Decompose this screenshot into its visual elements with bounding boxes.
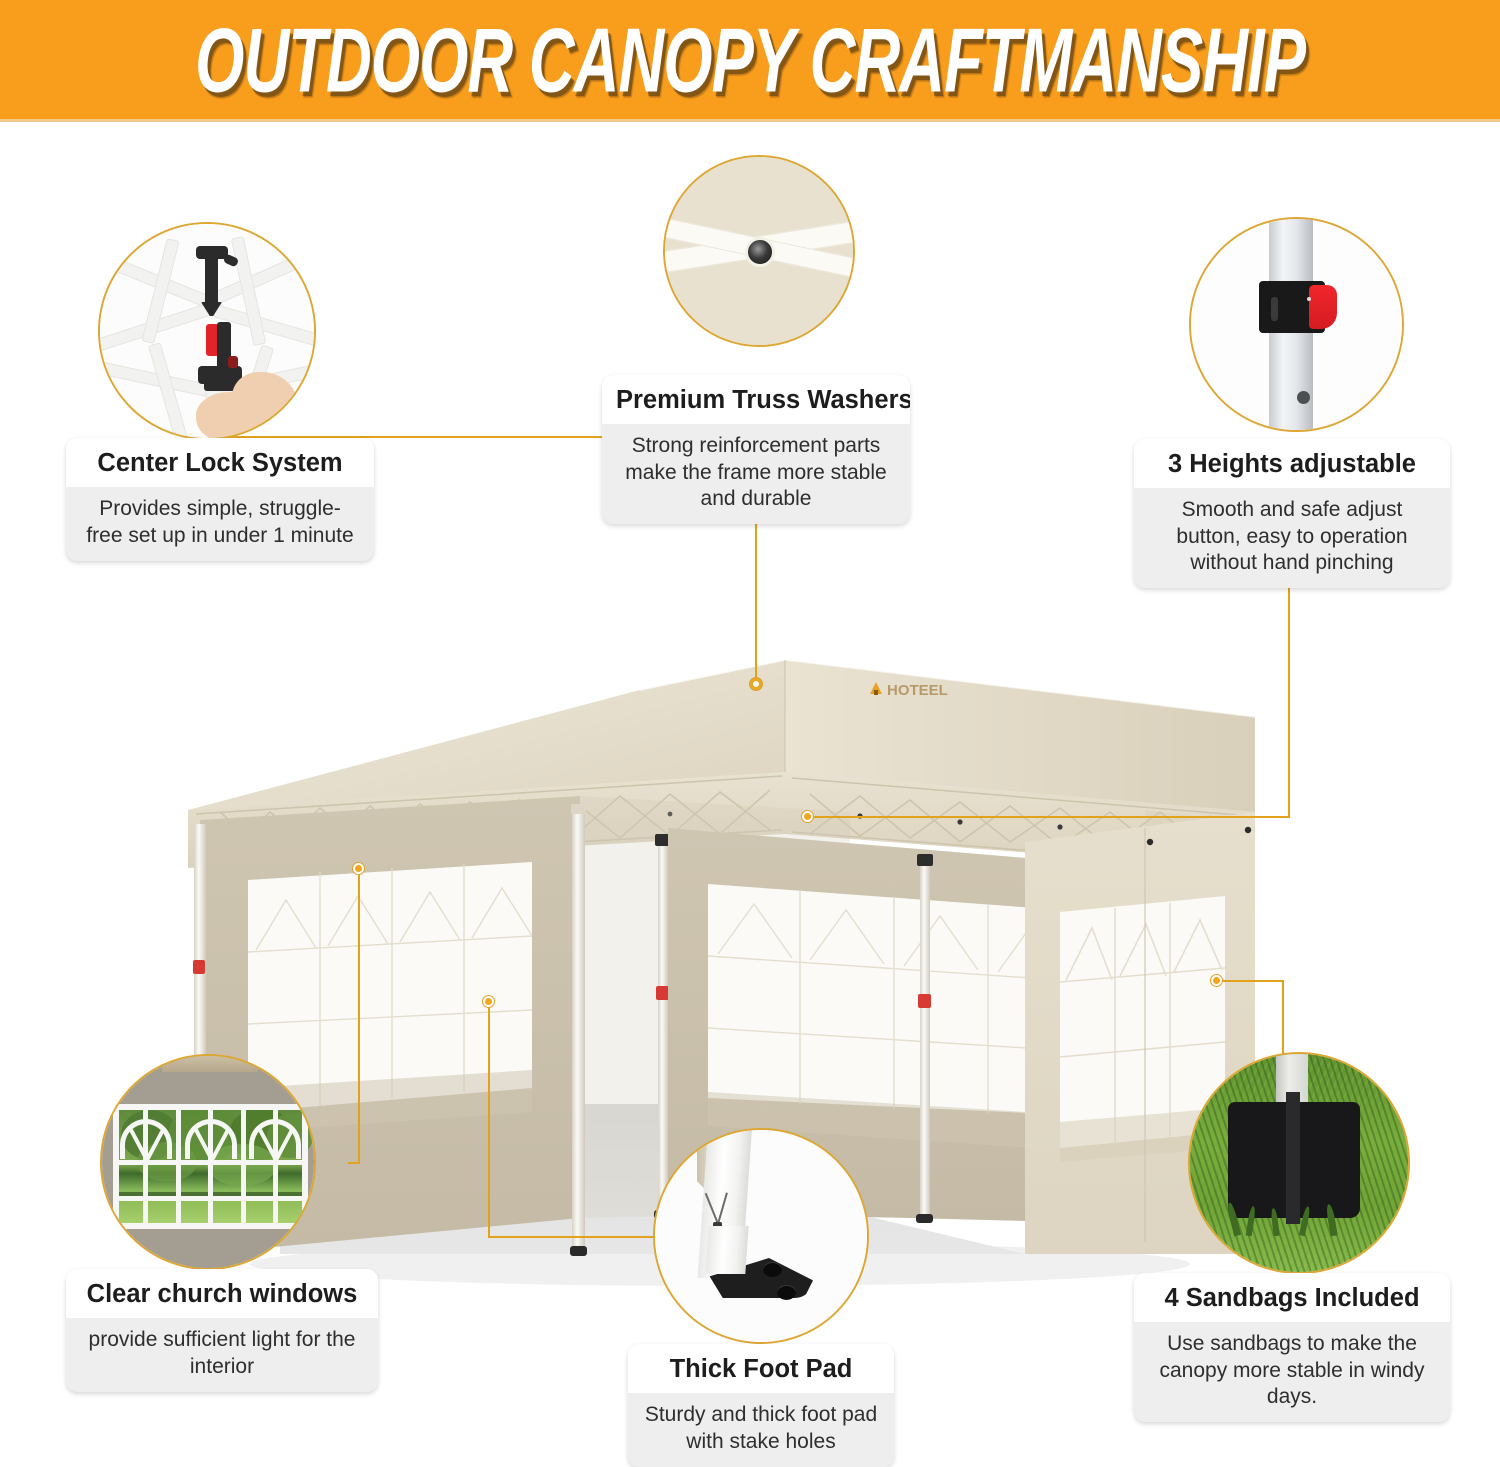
stake-hole-1 xyxy=(763,1262,782,1277)
feature-title-church-windows: Clear church windows xyxy=(66,1269,378,1318)
circle-photo-truss-washer xyxy=(663,155,855,347)
circle-photo-sandbag xyxy=(1188,1052,1410,1274)
connector-dot-sandbags xyxy=(1211,975,1222,986)
feature-card-truss-washers: Premium Truss Washers Strong reinforceme… xyxy=(602,375,910,524)
feature-description-heights-adjustable: Smooth and safe adjust button, easy to o… xyxy=(1134,488,1450,588)
feature-description-truss-washers: Strong reinforcement parts make the fram… xyxy=(602,424,910,524)
canopy-leg-interior-2 xyxy=(920,862,930,1218)
connector-truss-vertical xyxy=(755,499,757,684)
infographic-stage: HOTEEL xyxy=(0,122,1500,1461)
pole-height-hole xyxy=(1297,391,1310,404)
grommet-right-top xyxy=(1147,839,1153,845)
feature-title-truss-washers: Premium Truss Washers xyxy=(602,375,910,424)
feature-description-center-lock: Provides simple, struggle-free set up in… xyxy=(66,487,374,561)
height-adjust-red-lever xyxy=(1309,285,1337,329)
circle-photo-center-lock xyxy=(98,222,316,440)
connector-footpad-horizontal xyxy=(488,1236,658,1238)
sandbag-right xyxy=(1290,1102,1360,1218)
feature-title-foot-pad: Thick Foot Pad xyxy=(628,1344,894,1393)
connector-dot-footpad xyxy=(483,996,494,1007)
feature-card-church-windows: Clear church windows provide sufficient … xyxy=(66,1269,378,1392)
connector-sandbags-vertical xyxy=(1282,980,1284,1058)
truss-washer-bolt xyxy=(745,237,775,267)
grommet-right-corner xyxy=(1245,827,1251,833)
foot-pad-front-left xyxy=(570,1246,587,1256)
brand-logo-text: HOTEEL xyxy=(887,682,948,699)
connector-dot-windows xyxy=(353,863,364,874)
page-title: OUTDOOR CANOPY CRAFTMANSHIP xyxy=(0,0,1500,119)
church-window-frame xyxy=(113,1104,308,1229)
feature-title-heights-adjustable: 3 Heights adjustable xyxy=(1134,439,1450,488)
connector-dot-truss xyxy=(750,678,762,690)
sandbag-center-seam xyxy=(1286,1092,1300,1224)
feature-title-center-lock: Center Lock System xyxy=(66,438,374,487)
feature-card-sandbags: 4 Sandbags Included Use sandbags to make… xyxy=(1134,1273,1450,1422)
connector-sandbags-horizontal xyxy=(1216,980,1284,982)
circle-photo-church-windows xyxy=(100,1054,316,1270)
header-banner: OUTDOOR CANOPY CRAFTMANSHIP xyxy=(0,0,1500,122)
feature-description-sandbags: Use sandbags to make the canopy more sta… xyxy=(1134,1322,1450,1422)
feature-title-sandbags: 4 Sandbags Included xyxy=(1134,1273,1450,1322)
circle-photo-height-adjust xyxy=(1189,217,1404,432)
feature-card-foot-pad: Thick Foot Pad Sturdy and thick foot pad… xyxy=(628,1344,894,1467)
connector-heights-horizontal xyxy=(808,816,1290,818)
connector-footpad-vertical xyxy=(488,1002,490,1238)
height-adjust-button-interior xyxy=(656,986,669,1000)
feature-description-church-windows: provide sufficient light for the interio… xyxy=(66,1318,378,1392)
feature-card-heights-adjustable: 3 Heights adjustable Smooth and safe adj… xyxy=(1134,439,1450,588)
leg-top-clip-interior-2 xyxy=(917,854,933,866)
circle-photo-foot-pad xyxy=(653,1128,869,1344)
canopy-leg-front-left xyxy=(572,812,585,1252)
height-adjust-button-interior-2 xyxy=(918,994,931,1008)
stake-hole-2 xyxy=(777,1285,796,1300)
connector-dot-heights xyxy=(802,811,813,822)
feature-card-center-lock: Center Lock System Provides simple, stru… xyxy=(66,438,374,561)
feature-description-foot-pad: Sturdy and thick foot pad with stake hol… xyxy=(628,1393,894,1467)
page-title-text: OUTDOOR CANOPY CRAFTMANSHIP xyxy=(195,7,1305,112)
connector-windows-vertical xyxy=(358,868,360,1164)
connector-heights-vertical-a xyxy=(1288,562,1290,818)
height-adjust-button-far-left xyxy=(193,960,205,974)
